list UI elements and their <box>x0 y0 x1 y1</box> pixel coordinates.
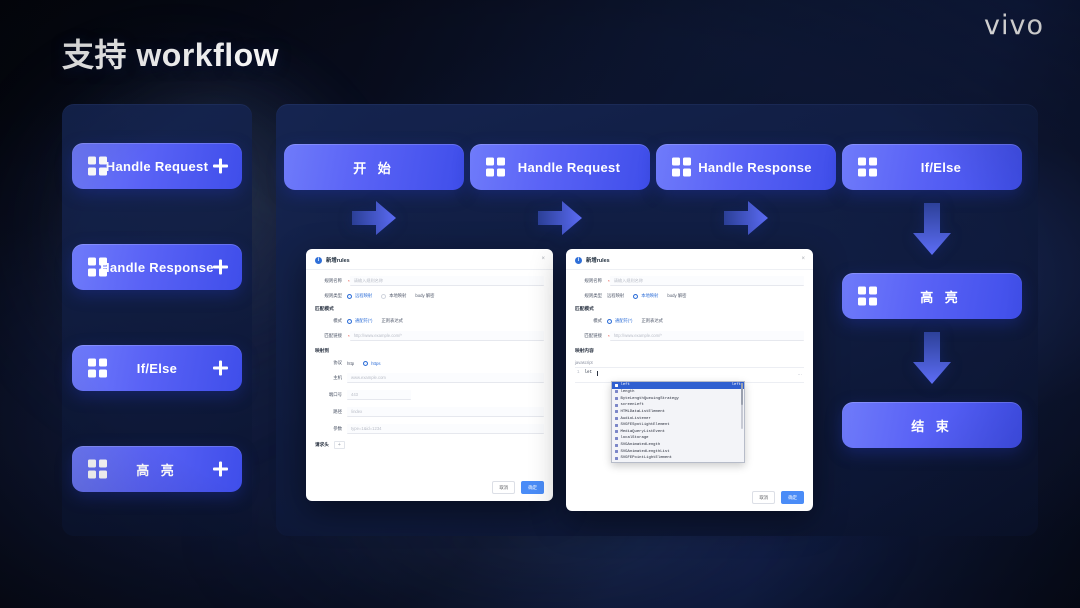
match-mode-section-title: 匹配模式 <box>315 306 544 312</box>
editor-menu-icon[interactable]: ⋯ <box>798 372 803 378</box>
match-link-row: 匹配链接 * http://www.example.com/* <box>575 331 804 341</box>
rule-type-label: 规则类型 <box>315 293 347 299</box>
flow-node-if-else[interactable]: If/Else <box>842 144 1022 190</box>
autocomplete-item-label: SVGAnimatedLengthList <box>621 449 670 455</box>
plus-icon[interactable] <box>213 361 228 376</box>
rule-type-row: 规则类型 远程映射 本地映射 body 解密 <box>575 293 804 299</box>
sidebar-item-if-else[interactable]: If/Else <box>72 345 242 391</box>
match-mode-section-title: 匹配模式 <box>575 306 804 312</box>
arrow-right-icon <box>724 200 768 236</box>
text-caret <box>597 371 598 376</box>
radio-label: 正则表达式 <box>641 318 662 324</box>
request-headers-row: 请求头 + <box>315 441 544 449</box>
radio-remote-mapping[interactable]: 远程映射 <box>347 293 372 299</box>
autocomplete-item-label: SVGAnimatedLength <box>621 442 661 448</box>
autocomplete-item-label: localStorage <box>621 435 649 441</box>
plus-icon[interactable] <box>213 462 228 477</box>
mode-row: 模式 通配符(*) 正则表达式 <box>315 318 544 324</box>
radio-label: 本地映射 <box>641 293 658 299</box>
rule-name-input[interactable]: 请输入规则名称 <box>350 276 544 286</box>
autocomplete-item-label: HTMLDataListElement <box>621 409 665 415</box>
host-input[interactable]: www.example.com <box>347 373 544 383</box>
code-language-label: javascript <box>575 360 804 368</box>
mode-radio-group[interactable]: 通配符(*) 正则表达式 <box>607 318 663 324</box>
autocomplete-item[interactable]: ByteLengthQueuingStrategy <box>612 395 744 402</box>
arrow-down-icon <box>912 332 952 384</box>
match-link-input[interactable]: http://www.example.com/* <box>610 331 804 341</box>
rule-name-label: 规则名称 <box>315 278 347 284</box>
radio-https[interactable]: https <box>363 361 380 366</box>
param-row: 参数 type=1&id=1234 <box>315 424 544 434</box>
autocomplete-item-label: ByteLengthQueuingStrategy <box>621 396 679 402</box>
flow-node-highlight[interactable]: 高 亮 <box>842 273 1022 319</box>
autocomplete-item[interactable]: SVGFEPointLightElement <box>612 455 744 462</box>
code-line[interactable]: 1 let <box>575 371 804 376</box>
autocomplete-item-label: screenLeft <box>621 402 644 408</box>
dialog-body: 规则名称 * 请输入规则名称 规则类型 远程映射 本地映射 body 解密 匹配… <box>306 270 553 453</box>
rule-type-row: 规则类型 远程映射 本地映射 body 解密 <box>315 293 544 299</box>
grid-icon <box>88 157 107 176</box>
protocol-radio-group[interactable]: http https <box>347 361 381 366</box>
dialog-header: i 新增rules × <box>306 249 553 270</box>
autocomplete-item-label: length <box>621 389 635 395</box>
info-icon: i <box>575 257 582 264</box>
protocol-row: 协议 http https <box>315 360 544 366</box>
port-row: 端口号 443 <box>315 390 544 400</box>
content-section-title: 映射内容 <box>575 348 804 354</box>
grid-icon <box>88 359 107 378</box>
arrow-right-icon <box>538 200 582 236</box>
mode-label: 模式 <box>575 318 607 324</box>
code-text: let <box>585 371 593 375</box>
host-label: 主机 <box>315 375 347 381</box>
autocomplete-item[interactable]: length <box>612 389 744 396</box>
radio-wildcard[interactable]: 通配符(*) <box>607 318 632 324</box>
dialog-header: i 新增rules × <box>566 249 813 270</box>
autocomplete-item[interactable]: SVGAnimatedLengthList <box>612 448 744 455</box>
arrow-down-icon <box>912 203 952 255</box>
radio-label: 远程映射 <box>355 293 372 299</box>
protocol-label: 协议 <box>315 360 347 366</box>
dialog-title: 新增rules <box>586 256 610 264</box>
match-link-label: 匹配链接 <box>575 333 607 339</box>
autocomplete-item-label: SVGFESpotLightElement <box>621 422 670 428</box>
flow-node-handle-response[interactable]: Handle Response <box>656 144 836 190</box>
radio-label: 通配符(*) <box>615 318 632 324</box>
rules-dialog-local[interactable]: i 新增rules × 规则名称 * 请输入规则名称 规则类型 远程映射 本地映… <box>566 249 813 511</box>
confirm-button[interactable]: 确定 <box>521 481 544 494</box>
rule-name-input[interactable]: 请输入规则名称 <box>610 276 804 286</box>
request-headers-label: 请求头 <box>315 442 329 448</box>
param-input[interactable]: type=1&id=1234 <box>347 424 544 434</box>
radio-wildcard[interactable]: 通配符(*) <box>347 318 372 324</box>
path-label: 路径 <box>315 409 347 415</box>
close-icon[interactable]: × <box>801 256 805 262</box>
autocomplete-item[interactable]: leftleft <box>612 382 744 389</box>
autocomplete-popup[interactable]: leftleft length ByteLengthQueuingStrateg… <box>611 381 745 463</box>
dialog-body: 规则名称 * 请输入规则名称 规则类型 远程映射 本地映射 body 解密 匹配… <box>566 270 813 387</box>
radio-label: 通配符(*) <box>355 318 372 324</box>
sidebar-item-handle-response[interactable]: Handle Response <box>72 244 242 290</box>
rule-type-radio-group[interactable]: 远程映射 本地映射 body 解密 <box>607 293 686 299</box>
flow-node-label: 结 束 <box>842 416 1022 435</box>
autocomplete-item-label: MediaQueryListEvent <box>621 429 665 435</box>
grid-icon <box>88 258 107 277</box>
path-row: 路径 /index <box>315 407 544 417</box>
grid-icon <box>486 158 505 177</box>
cancel-button[interactable]: 取消 <box>752 491 775 504</box>
radio-label: 正则表达式 <box>381 318 402 324</box>
dialog-title: 新增rules <box>326 256 350 264</box>
autocomplete-item[interactable]: screenLeft <box>612 402 744 409</box>
autocomplete-item-label: AudioListener <box>621 416 651 422</box>
flow-node-start[interactable]: 开 始 <box>284 144 464 190</box>
cancel-button[interactable]: 取消 <box>492 481 515 494</box>
port-label: 端口号 <box>315 392 347 398</box>
path-input[interactable]: /index <box>347 407 544 417</box>
plus-icon[interactable] <box>213 260 228 275</box>
sidebar-item-handle-request[interactable]: Handle Request <box>72 143 242 189</box>
match-link-row: 匹配链接 * http://www.example.com/* <box>315 331 544 341</box>
radio-regex[interactable]: 正则表达式 <box>641 318 662 324</box>
param-label: 参数 <box>315 426 347 432</box>
grid-icon <box>88 460 107 479</box>
rule-name-row: 规则名称 * 请输入规则名称 <box>315 276 544 286</box>
radio-label: body 解密 <box>415 293 434 299</box>
radio-regex[interactable]: 正则表达式 <box>381 318 402 324</box>
code-editor[interactable]: 1 let ⋯ leftleft length ByteLengthQueuin… <box>575 371 804 383</box>
flow-node-label: 开 始 <box>284 158 464 177</box>
mode-radio-group[interactable]: 通配符(*) 正则表达式 <box>347 318 403 324</box>
radio-label: https <box>371 361 380 366</box>
radio-label: body 解密 <box>667 293 686 299</box>
grid-icon <box>858 287 877 306</box>
mapping-section-title: 映射到 <box>315 348 544 354</box>
autocomplete-item[interactable]: HTMLDataListElement <box>612 409 744 416</box>
mode-row: 模式 通配符(*) 正则表达式 <box>575 318 804 324</box>
port-input[interactable]: 443 <box>347 390 411 400</box>
dialog-footer: 取消 确定 <box>752 491 804 504</box>
vivo-logo: vivo <box>984 10 1044 41</box>
autocomplete-item[interactable]: localStorage <box>612 435 744 442</box>
dialog-footer: 取消 确定 <box>492 481 544 494</box>
autocomplete-item[interactable]: SVGFESpotLightElement <box>612 422 744 429</box>
line-number: 1 <box>577 371 580 375</box>
autocomplete-item-label: SVGFEPointLightElement <box>621 455 672 461</box>
match-link-input[interactable]: http://www.example.com/* <box>350 331 544 341</box>
grid-icon <box>672 158 691 177</box>
sidebar-item-highlight[interactable]: 高 亮 <box>72 446 242 492</box>
arrow-right-icon <box>352 200 396 236</box>
rule-name-label: 规则名称 <box>575 278 607 284</box>
radio-label: 本地映射 <box>389 293 406 299</box>
match-link-label: 匹配链接 <box>315 333 347 339</box>
autocomplete-item[interactable]: SVGAnimatedLength <box>612 442 744 449</box>
radio-label: 远程映射 <box>607 293 624 299</box>
host-row: 主机 www.example.com <box>315 373 544 383</box>
rule-type-radio-group[interactable]: 远程映射 本地映射 body 解密 <box>347 293 434 299</box>
page-title: 支持 workflow <box>62 30 279 76</box>
add-header-button[interactable]: + <box>334 441 345 449</box>
radio-local-mapping[interactable]: 本地映射 <box>381 293 406 299</box>
flow-node-end[interactable]: 结 束 <box>842 402 1022 448</box>
autocomplete-item[interactable]: AudioListener <box>612 415 744 422</box>
rule-type-label: 规则类型 <box>575 293 607 299</box>
plus-icon[interactable] <box>213 159 228 174</box>
flow-node-handle-request[interactable]: Handle Request <box>470 144 650 190</box>
mode-label: 模式 <box>315 318 347 324</box>
confirm-button[interactable]: 确定 <box>781 491 804 504</box>
radio-http[interactable]: http <box>347 361 354 366</box>
radio-label: http <box>347 361 354 366</box>
info-icon: i <box>315 257 322 264</box>
rules-dialog-remote[interactable]: i 新增rules × 规则名称 * 请输入规则名称 规则类型 远程映射 本地映… <box>306 249 553 501</box>
autocomplete-item-label: left <box>621 382 630 388</box>
rule-name-row: 规则名称 * 请输入规则名称 <box>575 276 804 286</box>
radio-remote-mapping[interactable]: 远程映射 <box>607 293 624 299</box>
close-icon[interactable]: × <box>541 256 545 262</box>
autocomplete-item[interactable]: MediaQueryListEvent <box>612 428 744 435</box>
radio-body-decrypt[interactable]: body 解密 <box>415 293 434 299</box>
radio-local-mapping[interactable]: 本地映射 <box>633 293 658 299</box>
radio-body-decrypt[interactable]: body 解密 <box>667 293 686 299</box>
autocomplete-item-tail: left <box>732 382 741 388</box>
grid-icon <box>858 158 877 177</box>
